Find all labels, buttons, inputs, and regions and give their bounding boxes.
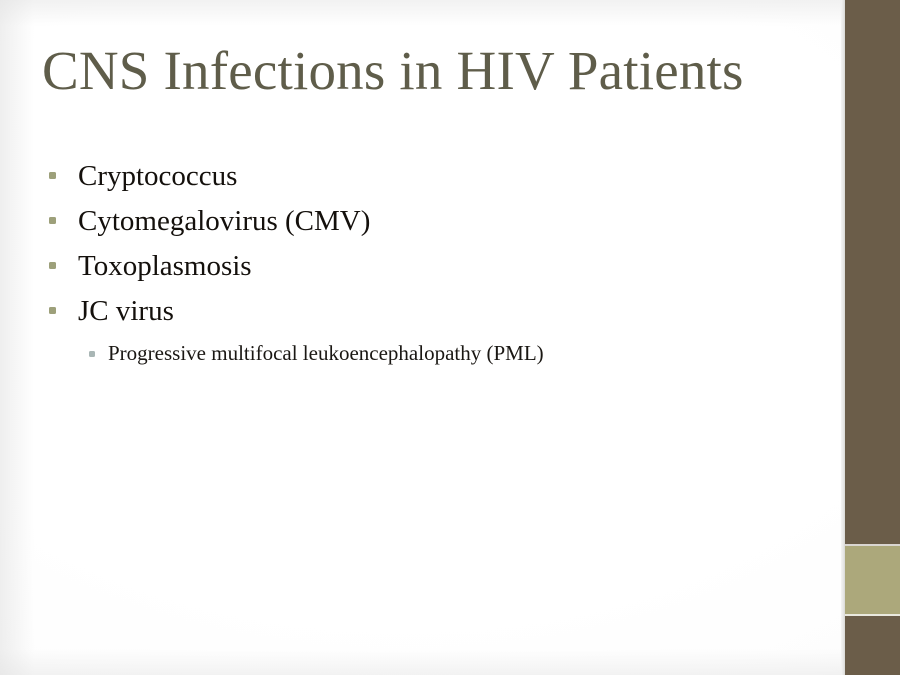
list-item: Toxoplasmosis [0,246,820,291]
list-item: Cryptococcus [0,156,820,201]
list-item: JC virus [0,291,820,336]
sidebar-band-dark-top [845,0,900,546]
list-item-label: JC virus [78,291,174,331]
slide-canvas: CNS Infections in HIV Patients Cryptococ… [0,0,900,675]
slide-title: CNS Infections in HIV Patients [42,42,812,100]
sidebar-band-khaki [845,546,900,616]
sub-list-item: Progressive multifocal leukoencephalopat… [0,336,820,372]
sub-bullet-dot-icon [89,351,95,357]
decorative-sidebar [841,0,900,675]
list-item-label: Cytomegalovirus (CMV) [78,201,370,241]
list-item-label: Cryptococcus [78,156,237,196]
bullet-dot-icon [49,217,56,224]
sidebar-band-dark-bottom [845,616,900,675]
bullet-dot-icon [49,172,56,179]
bullet-dot-icon [49,307,56,314]
bullet-dot-icon [49,262,56,269]
sub-list-item-label: Progressive multifocal leukoencephalopat… [108,336,544,370]
list-item-label: Toxoplasmosis [78,246,252,286]
list-item: Cytomegalovirus (CMV) [0,201,820,246]
bullet-list: Cryptococcus Cytomegalovirus (CMV) Toxop… [0,156,820,372]
